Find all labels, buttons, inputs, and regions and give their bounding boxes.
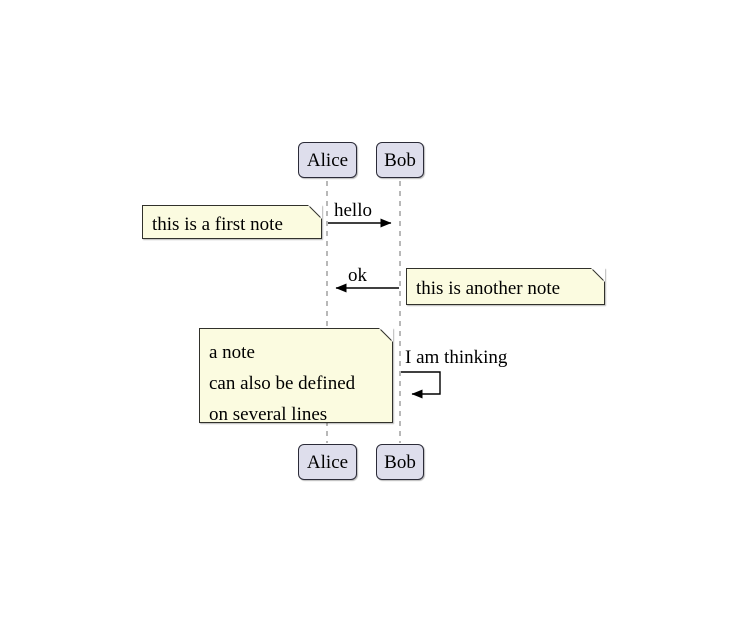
participant-label: Bob [384, 453, 416, 472]
note-fold-icon [591, 268, 605, 282]
note-text: this is a first note [152, 211, 305, 239]
participant-bob-top[interactable]: Bob [376, 142, 424, 178]
sequence-diagram-canvas: Alice Bob this is a first note hello ok … [0, 0, 746, 620]
note-fold-icon [379, 328, 393, 342]
note-text: a note can also be defined on several li… [209, 338, 376, 430]
note-another[interactable]: this is another note [406, 268, 605, 305]
message-label-thinking: I am thinking [405, 348, 507, 367]
participant-label: Alice [307, 453, 348, 472]
participant-label: Alice [307, 151, 348, 170]
diagram-vector-layer [0, 0, 746, 620]
message-label-text: I am thinking [405, 347, 507, 368]
note-text: this is another note [416, 275, 588, 303]
message-arrow-thinking [401, 372, 440, 394]
message-label-text: ok [348, 265, 367, 286]
participant-alice-bottom[interactable]: Alice [298, 444, 357, 480]
participant-alice-top[interactable]: Alice [298, 142, 357, 178]
message-label-hello: hello [334, 201, 372, 220]
message-label-text: hello [334, 200, 372, 221]
message-label-ok: ok [348, 266, 367, 285]
note-first[interactable]: this is a first note [142, 205, 322, 239]
note-multiline[interactable]: a note can also be defined on several li… [199, 328, 393, 423]
participant-bob-bottom[interactable]: Bob [376, 444, 424, 480]
participant-label: Bob [384, 151, 416, 170]
note-fold-icon [308, 205, 322, 219]
